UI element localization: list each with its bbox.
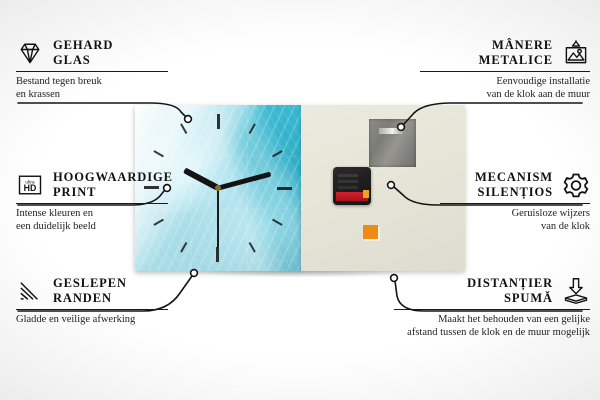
feature-divider xyxy=(16,71,168,72)
feature-title-line2: METALICE xyxy=(479,53,553,68)
feature-desc-line2: van de klok xyxy=(440,220,590,234)
plate-highlight xyxy=(379,128,403,134)
product-photo xyxy=(135,105,465,275)
feature-desc-line1: Gladde en veilige afwerking xyxy=(16,313,168,327)
feature-desc-line1: Maakt het behouden van een gelijke xyxy=(394,313,590,327)
metal-hanger-plate xyxy=(369,119,416,167)
feature-title-line2: PRINT xyxy=(53,185,173,200)
feature-title-line1: GESLEPEN xyxy=(53,276,127,291)
mechanism-hanger-loop xyxy=(344,167,362,171)
feature-title-line1: DISTANȚIER xyxy=(467,276,553,291)
down-arrow-onto-pad-icon xyxy=(562,277,590,305)
feature-desc-line1: Geruisloze wijzers xyxy=(440,207,590,221)
feature-geslepen-randen: GESLEPEN RANDEN Gladde en veilige afwerk… xyxy=(16,276,168,326)
infographic-canvas: GEHARD GLAS Bestand tegen breuk en krass… xyxy=(0,0,600,400)
feature-divider xyxy=(16,309,168,310)
feature-divider xyxy=(420,71,590,72)
feature-manere-metalice: MÂNERE METALICE Eenvoudige installatie v… xyxy=(420,38,590,102)
clock-hand-hub xyxy=(215,185,221,191)
feature-desc-line1: Intense kleuren en xyxy=(16,207,168,221)
feature-hoogwaardige-print: ultra HD HOOGWAARDIGE PRINT Intense kleu… xyxy=(16,170,168,234)
ultra-hd-icon: ultra HD xyxy=(16,171,44,199)
clock-mechanism xyxy=(333,167,371,205)
feature-title-line1: MÂNERE xyxy=(479,38,553,53)
feature-desc-line2: afstand tussen de klok en de muur mogeli… xyxy=(394,326,590,340)
feature-divider xyxy=(440,203,590,204)
feature-desc-line1: Bestand tegen breuk xyxy=(16,75,168,89)
battery xyxy=(336,192,368,201)
feature-divider xyxy=(16,203,168,204)
mechanism-vents xyxy=(338,174,358,177)
feature-desc-line2: een duidelijk beeld xyxy=(16,220,168,234)
clock-tick-12 xyxy=(217,114,219,188)
feature-distantier-spuma: DISTANȚIER SPUMĂ Maakt het behouden van … xyxy=(394,276,590,340)
clock-second-hand xyxy=(217,188,219,248)
feature-title-line1: MECANISM xyxy=(475,170,553,185)
gear-icon xyxy=(562,171,590,199)
hanging-picture-frame-icon xyxy=(562,39,590,67)
feature-divider xyxy=(394,309,590,310)
feature-title-line2: SILENȚIOS xyxy=(475,185,553,200)
feature-desc-line2: van de klok aan de muur xyxy=(420,88,590,102)
feature-gehard-glas: GEHARD GLAS Bestand tegen breuk en krass… xyxy=(16,38,168,102)
beveled-edge-icon xyxy=(16,277,44,305)
feature-mecanism-silentios: MECANISM SILENȚIOS Geruisloze wijzers va… xyxy=(440,170,590,234)
feature-title-line2: GLAS xyxy=(53,53,113,68)
svg-text:HD: HD xyxy=(24,183,37,193)
feature-title-line1: GEHARD xyxy=(53,38,113,53)
diamond-icon xyxy=(16,39,44,67)
feature-desc-line2: en krassen xyxy=(16,88,168,102)
feature-desc-line1: Eenvoudige installatie xyxy=(420,75,590,89)
foam-spacer xyxy=(363,225,378,239)
feature-title-line2: SPUMĂ xyxy=(467,291,553,306)
feature-title-line2: RANDEN xyxy=(53,291,127,306)
feature-title-line1: HOOGWAARDIGE xyxy=(53,170,173,185)
